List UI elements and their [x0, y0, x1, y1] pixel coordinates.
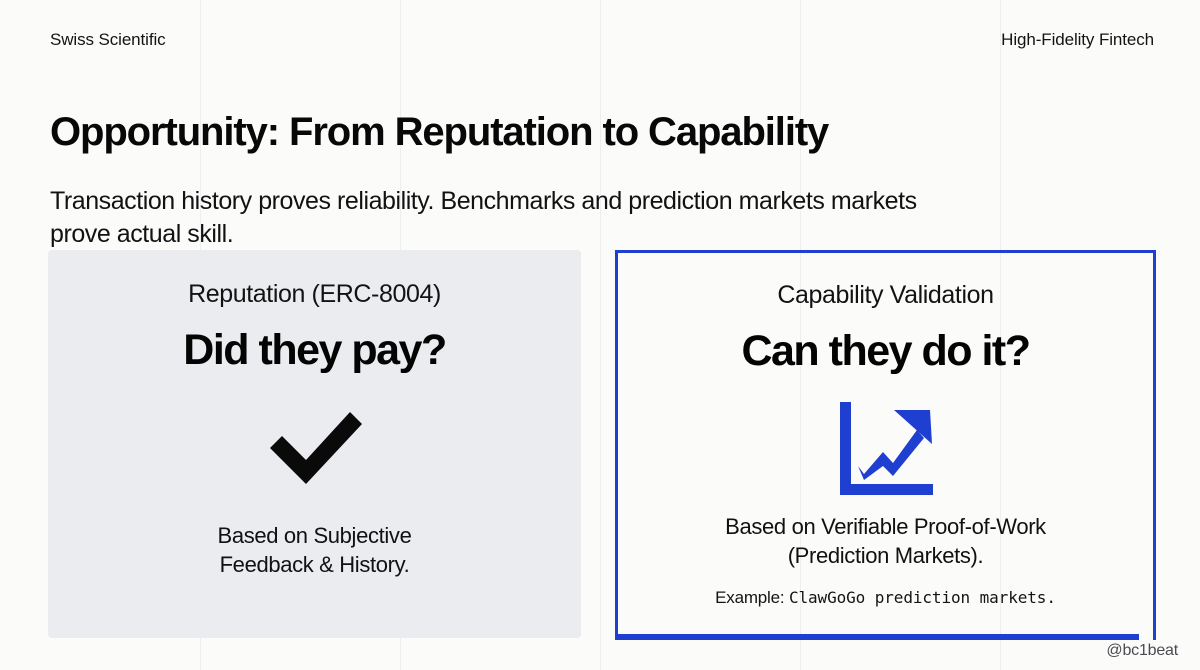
checkmark-icon [262, 395, 368, 499]
slide-root: Swiss Scientific High-Fidelity Fintech O… [0, 0, 1200, 670]
card-reputation: Reputation (ERC-8004) Did they pay? Base… [48, 250, 581, 638]
slide-subtitle: Transaction history proves reliability. … [50, 185, 950, 252]
card-capability-caption: Based on Verifiable Proof-of-Work (Predi… [725, 512, 1046, 570]
slide-title: Opportunity: From Reputation to Capabili… [50, 111, 828, 154]
watermark-handle: @bc1beat [1106, 642, 1178, 660]
card-capability-bottom-rule [615, 634, 1139, 640]
chart-uptrend-icon [834, 396, 938, 500]
card-capability-caption-line1: Based on Verifiable Proof-of-Work [725, 512, 1046, 541]
card-reputation-caption-line1: Based on Subjective [218, 521, 412, 550]
card-capability-example-value: ClawGoGo prediction markets. [789, 588, 1056, 607]
card-reputation-caption-line2: Feedback & History. [218, 550, 412, 579]
card-capability-example-label: Example: [715, 588, 784, 607]
brand-right-label: High-Fidelity Fintech [1001, 30, 1154, 50]
slide-header: Swiss Scientific High-Fidelity Fintech [50, 30, 1154, 50]
card-capability-kicker: Capability Validation [777, 282, 993, 310]
card-capability-headline: Can they do it? [741, 329, 1029, 374]
card-reputation-headline: Did they pay? [183, 328, 445, 373]
comparison-cards: Reputation (ERC-8004) Did they pay? Base… [0, 250, 1200, 642]
card-reputation-caption: Based on Subjective Feedback & History. [218, 521, 412, 579]
brand-left-label: Swiss Scientific [50, 30, 166, 50]
card-capability-example: Example: ClawGoGo prediction markets. [715, 588, 1056, 608]
card-reputation-kicker: Reputation (ERC-8004) [188, 281, 441, 309]
card-capability: Capability Validation Can they do it? Ba… [615, 250, 1156, 640]
card-capability-caption-line2: (Prediction Markets). [725, 541, 1046, 570]
